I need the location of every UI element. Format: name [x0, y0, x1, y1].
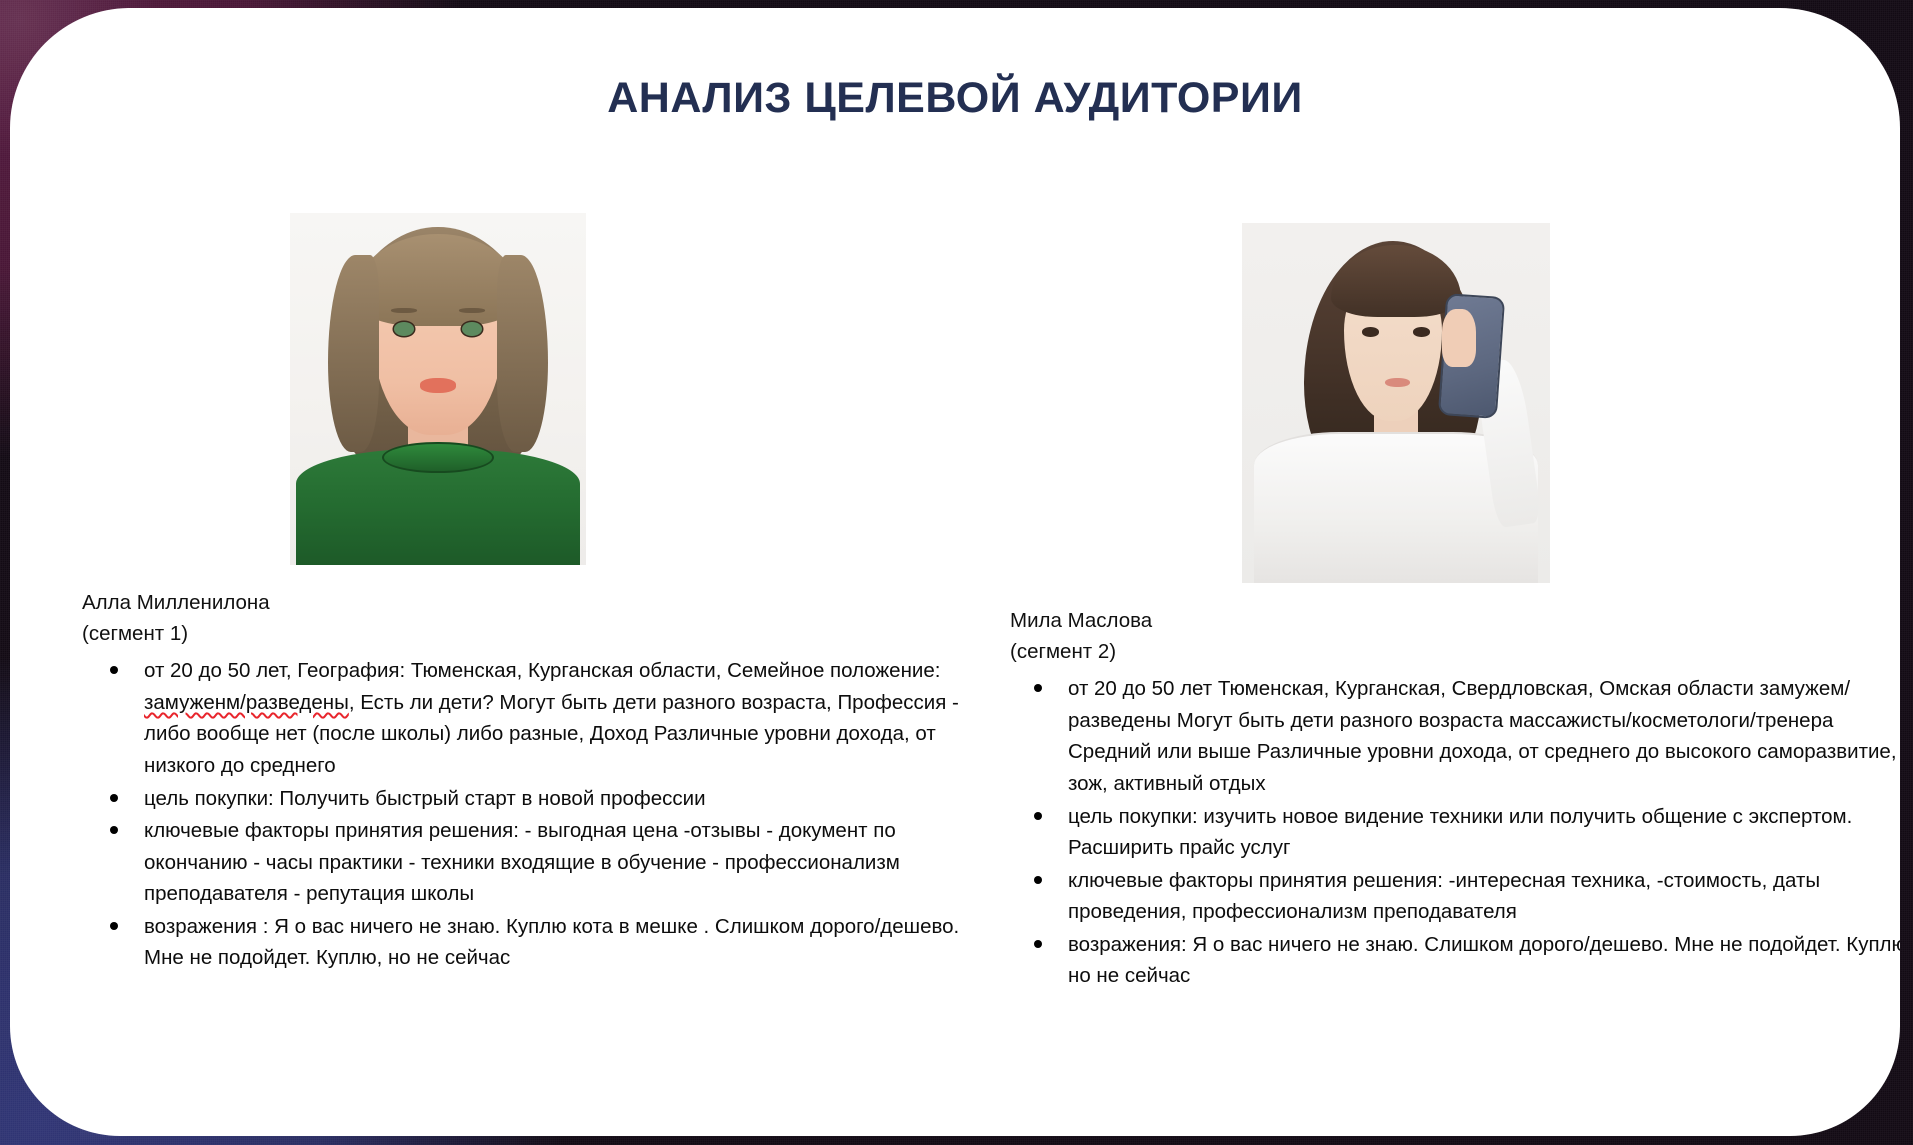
list-item: от 20 до 50 лет Тюменская, Курганская, С… — [1068, 673, 1900, 799]
list-item: цель покупки: Получить быстрый старт в н… — [144, 783, 962, 815]
list-item: от 20 до 50 лет, География: Тюменская, К… — [144, 655, 962, 781]
hair-right-shape — [497, 255, 547, 452]
persona-column-2: Мила Маслова (сегмент 2) от 20 до 50 лет… — [1010, 223, 1900, 993]
persona-segment-2: (сегмент 2) — [1010, 636, 1900, 667]
persona-point-text: цель покупки: изучить новое видение техн… — [1068, 805, 1852, 860]
spellcheck-underline: замуженм/разведены — [144, 691, 349, 714]
persona-name-2: Мила Маслова — [1010, 605, 1900, 636]
list-item: возражения: Я о вас ничего не знаю. Слиш… — [1068, 929, 1900, 992]
persona-column-1: Алла Милленилона (сегмент 1) от 20 до 50… — [82, 213, 962, 975]
persona-segment-1: (сегмент 1) — [82, 618, 962, 649]
hand-shape — [1442, 309, 1476, 367]
persona-photo-2 — [1242, 223, 1550, 583]
persona-point-text: ключевые факторы принятия решения: -инте… — [1068, 869, 1820, 924]
list-item: цель покупки: изучить новое видение техн… — [1068, 801, 1900, 864]
lips-shape — [1385, 378, 1410, 387]
persona-point-text: возражения : Я о вас ничего не знаю. Куп… — [144, 915, 959, 970]
eye-left — [1362, 327, 1379, 336]
hair-front-shape — [1331, 245, 1460, 317]
lips-shape — [420, 378, 456, 392]
portrait-illustration-1 — [290, 213, 586, 565]
slide-card: АНАЛИЗ ЦЕЛЕВОЙ АУДИТОРИИ Алла Милленилон… — [10, 8, 1900, 1136]
persona-point-text: ключевые факторы принятия решения: - выг… — [144, 819, 900, 905]
persona-point-text: от 20 до 50 лет, География: Тюменская, К… — [144, 659, 959, 777]
persona-point-text: возражения: Я о вас ничего не знаю. Слиш… — [1068, 933, 1900, 988]
hair-left-shape — [328, 255, 378, 452]
portrait-illustration-2 — [1242, 223, 1550, 583]
persona-photo-1 — [290, 213, 586, 565]
hair-front-shape — [355, 234, 521, 326]
persona-name-1: Алла Милленилона — [82, 587, 962, 618]
persona-points-1: от 20 до 50 лет, География: Тюменская, К… — [82, 655, 962, 974]
page-title: АНАЛИЗ ЦЕЛЕВОЙ АУДИТОРИИ — [10, 74, 1900, 123]
persona-point-text: цель покупки: Получить быстрый старт в н… — [144, 787, 706, 810]
list-item: ключевые факторы принятия решения: -инте… — [1068, 865, 1900, 928]
persona-point-text: от 20 до 50 лет Тюменская, Курганская, С… — [1068, 677, 1897, 795]
list-item: ключевые факторы принятия решения: - выг… — [144, 815, 962, 910]
list-item: возражения : Я о вас ничего не знаю. Куп… — [144, 911, 962, 974]
persona-points-2: от 20 до 50 лет Тюменская, Курганская, С… — [1010, 673, 1900, 992]
eye-right — [1413, 327, 1430, 336]
